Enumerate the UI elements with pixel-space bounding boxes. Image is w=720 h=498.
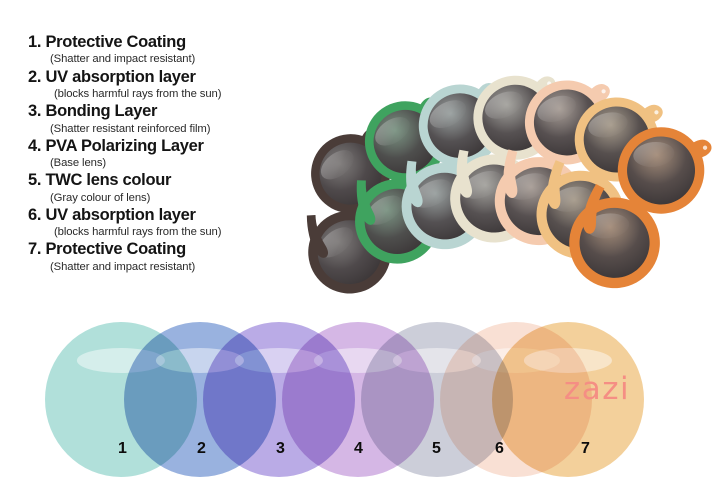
layer-subtitle: (blocks harmful rays from the sun) xyxy=(28,225,298,239)
circle-number-2: 2 xyxy=(197,440,206,458)
layer-title-text: UV absorption layer xyxy=(45,68,195,86)
list-item: 4. PVA Polarizing Layer (Base lens) xyxy=(28,137,298,171)
circle-number-6: 6 xyxy=(495,440,504,458)
list-item: 6. UV absorption layer (blocks harmful r… xyxy=(28,206,298,240)
layer-number: 2. xyxy=(28,68,41,86)
list-item: 5. TWC lens colour (Gray colour of lens) xyxy=(28,171,298,205)
list-item: 7. Protective Coating (Shatter and impac… xyxy=(28,240,298,274)
layer-title: 6. UV absorption layer xyxy=(28,206,298,225)
layer-title-text: Protective Coating xyxy=(45,33,185,51)
circle-number-5: 5 xyxy=(432,440,441,458)
zazi-brand-logo: zazi xyxy=(546,374,648,405)
layer-number: 3. xyxy=(28,102,41,120)
circle-highlight xyxy=(524,348,612,373)
layer-title: 7. Protective Coating xyxy=(28,240,298,259)
list-item: 2. UV absorption layer (blocks harmful r… xyxy=(28,68,298,102)
layer-number: 5. xyxy=(28,171,41,189)
layer-title: 3. Bonding Layer xyxy=(28,102,298,121)
list-item: 3. Bonding Layer (Shatter resistant rein… xyxy=(28,102,298,136)
circle-number-7: 7 xyxy=(581,440,590,458)
list-item: 1. Protective Coating (Shatter and impac… xyxy=(28,33,298,67)
layer-subtitle: (Shatter and impact resistant) xyxy=(28,260,298,274)
layer-subtitle: (Base lens) xyxy=(28,156,298,170)
layer-title-text: Protective Coating xyxy=(45,240,185,258)
layer-title-text: Bonding Layer xyxy=(45,102,157,120)
layer-title: 5. TWC lens colour xyxy=(28,171,298,190)
layer-subtitle: (Shatter and impact resistant) xyxy=(28,52,298,66)
circle-number-1: 1 xyxy=(118,440,127,458)
layer-title: 2. UV absorption layer xyxy=(28,68,298,87)
layer-title-text: PVA Polarizing Layer xyxy=(45,137,203,155)
layer-subtitle: (Gray colour of lens) xyxy=(28,191,298,205)
layer-title: 1. Protective Coating xyxy=(28,33,298,52)
fanned-sunglasses-photo xyxy=(296,44,716,306)
layer-number: 4. xyxy=(28,137,41,155)
layer-title-text: TWC lens colour xyxy=(45,171,171,189)
layer-subtitle: (blocks harmful rays from the sun) xyxy=(28,87,298,101)
circle-number-4: 4 xyxy=(354,440,363,458)
circle-number-3: 3 xyxy=(276,440,285,458)
layer-number: 6. xyxy=(28,206,41,224)
layer-title-text: UV absorption layer xyxy=(45,206,195,224)
lens-layer-list: 1. Protective Coating (Shatter and impac… xyxy=(28,33,298,275)
layer-subtitle: (Shatter resistant reinforced film) xyxy=(28,122,298,136)
layer-number: 1. xyxy=(28,33,41,51)
layer-number: 7. xyxy=(28,240,41,258)
layer-title: 4. PVA Polarizing Layer xyxy=(28,137,298,156)
